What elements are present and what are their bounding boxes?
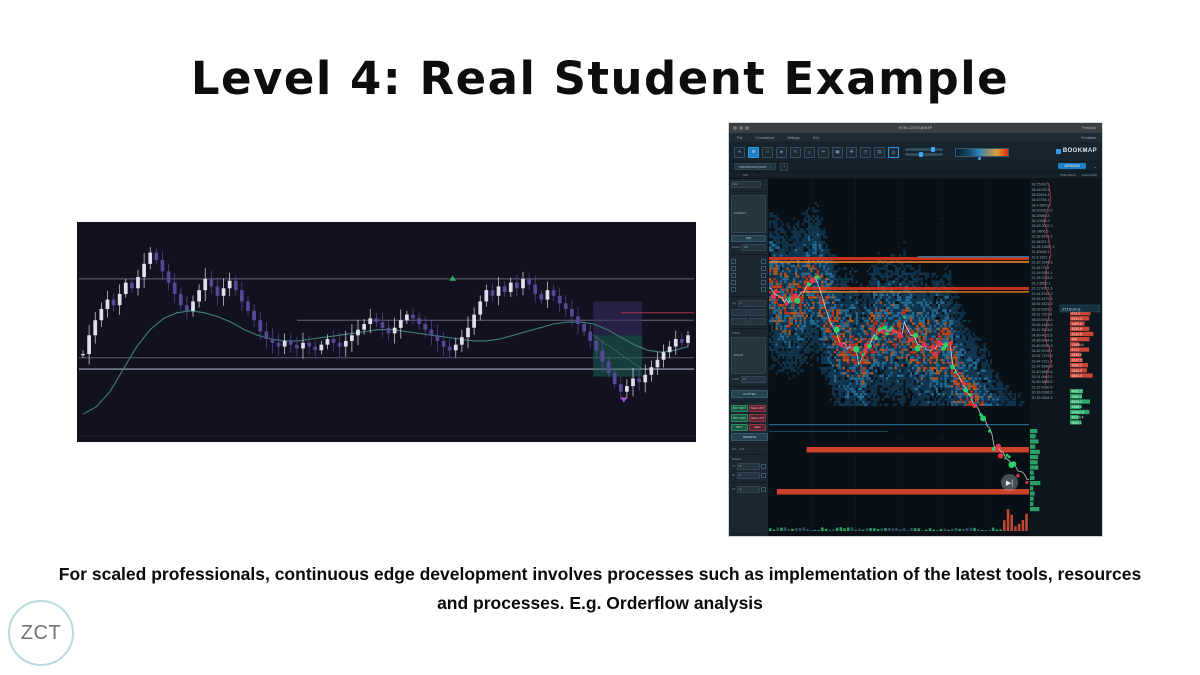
dom-price-ladder[interactable]: 38.75290.138.44192.538.52818.438.43756.4… <box>1029 179 1102 537</box>
bookmap-menubar[interactable]: File Connections Settings Grid Feedback <box>729 133 1102 143</box>
layer-settings-icon[interactable] <box>761 259 766 264</box>
account-button[interactable]: SIM <box>731 235 766 243</box>
pnl-row: PnL 0.00 <box>731 448 766 451</box>
tp-stepper-icon[interactable] <box>761 464 766 469</box>
crosshair-tool[interactable]: ✛ <box>734 147 745 158</box>
divider <box>731 386 766 387</box>
substrip-left-label: SOI <box>743 173 748 177</box>
ts-row[interactable]: TS 4 <box>731 486 766 493</box>
market-order-row[interactable]: BUY MKT SELL MKT <box>731 405 766 413</box>
ladder-svg: 38.75290.138.44192.538.52818.438.43756.4… <box>1030 179 1102 537</box>
bookmap-substrip: SOI Order Book Volume Dot <box>729 172 1102 179</box>
target-tool[interactable]: ✜ <box>846 147 857 158</box>
layer-settings-icon[interactable] <box>761 273 766 278</box>
layer-toggle-row[interactable] <box>731 259 766 264</box>
price-label: PRICE <box>731 332 740 335</box>
order-book-label[interactable]: Order Book <box>1060 173 1075 177</box>
window-title-right-label[interactable]: Feedback <box>1082 126 1096 130</box>
bookmap-tabbar[interactable]: mtdashboard panel × + UPGRADE ⌄ <box>729 162 1102 172</box>
clock-tool[interactable]: ◷ <box>860 147 871 158</box>
menu-item-grid[interactable]: Grid <box>813 136 819 140</box>
bookmap-logo-icon <box>1056 149 1061 154</box>
layer-toggle-row[interactable] <box>731 287 766 292</box>
slide-caption: For scaled professionals, continuous edg… <box>45 560 1155 618</box>
grid-cell[interactable] <box>731 309 748 316</box>
grid-cell[interactable] <box>749 309 766 316</box>
color-scale-knob[interactable] <box>978 157 981 160</box>
layer-settings-icon[interactable] <box>761 280 766 285</box>
levels-tool[interactable]: ≡ <box>804 147 815 158</box>
heatmap-svg: 06:3007:4512:0006:1506:30 <box>769 179 1029 537</box>
sl-label: SL <box>731 474 735 477</box>
candlestick-chart-image <box>77 222 696 442</box>
workspace-tab-label: mtdashboard panel <box>739 165 766 169</box>
sell-button[interactable]: SELL <box>749 424 766 432</box>
qty-row[interactable]: Qty 1 <box>731 300 766 307</box>
heatmap-tool[interactable]: ≋ <box>748 147 759 158</box>
connection-field[interactable]: CONNECT <box>731 195 766 233</box>
period-row[interactable]: Period 170 <box>731 244 766 251</box>
reverse-button[interactable]: REVERSE <box>731 433 768 441</box>
volume-dots-tool[interactable]: ⠿ <box>762 147 773 158</box>
liquidity-heatmap[interactable]: 06:3007:4512:0006:1506:30 ▶| <box>769 179 1029 537</box>
quick-grid[interactable] <box>731 309 766 325</box>
limit-order-row[interactable]: BUY LMT SELL LMT <box>731 414 766 422</box>
zct-logo: ZCT <box>8 600 74 666</box>
divider <box>731 191 766 192</box>
order-row[interactable]: BUY SELL <box>731 424 766 432</box>
page-title: Level 4: Real Student Example <box>0 52 1200 105</box>
divider <box>731 444 766 445</box>
toolbar-slider-group[interactable] <box>905 148 943 156</box>
layer-settings-icon[interactable] <box>761 287 766 292</box>
divider <box>731 328 766 329</box>
bookmap-logo-text: BOOKMAP <box>1063 148 1097 154</box>
candlestick-chart-svg <box>77 222 696 442</box>
bookmap-toolbar[interactable]: ✛≋⠿◈✎≡✏▣✜◷▤⏻ BOOKMAP <box>729 143 1102 162</box>
size-slider[interactable] <box>905 148 943 151</box>
layer-toggle-row[interactable] <box>731 280 766 285</box>
ts-stepper-icon[interactable] <box>761 487 766 492</box>
period-input[interactable]: 170 <box>741 244 766 251</box>
workspace-tab[interactable]: mtdashboard panel × <box>734 163 776 170</box>
replay-play-button[interactable]: ▶| <box>1001 474 1018 491</box>
layer-visibility-icon[interactable] <box>731 266 736 271</box>
buy-market-button[interactable]: BUY MKT <box>731 405 748 413</box>
window-title: HTML-DOCS@MAP <box>729 126 1102 130</box>
tp-row[interactable]: TP 8 <box>731 463 766 470</box>
grid-cell[interactable] <box>731 318 748 325</box>
logo-text: ZCT <box>8 600 74 666</box>
balance-label: Balance <box>731 458 766 461</box>
layer-settings-icon[interactable] <box>761 266 766 271</box>
tp-input[interactable]: 8 <box>737 463 760 470</box>
divider <box>731 296 766 297</box>
stop-row[interactable]: STOP 12 <box>731 376 766 383</box>
ts-input[interactable]: 4 <box>737 486 760 493</box>
menu-item-connections[interactable]: Connections <box>755 136 774 140</box>
substrip-right-group: Order Book Volume Dot <box>1060 173 1097 177</box>
ts-label: TS <box>731 488 735 491</box>
record-tool[interactable]: ⏻ <box>888 147 899 158</box>
line-tool[interactable]: ✏ <box>818 147 829 158</box>
layer-visibility-icon[interactable] <box>731 259 736 264</box>
flatten-button[interactable]: FLATTEN <box>731 390 768 398</box>
bookmap-logo: BOOKMAP <box>1056 148 1097 154</box>
divider <box>731 454 766 455</box>
price-input[interactable]: 4163.25 <box>731 337 766 375</box>
menu-item-feedback[interactable]: Feedback <box>1081 136 1096 140</box>
bookmap-application-window[interactable]: HTML-DOCS@MAP Feedback File Connections … <box>728 122 1103 537</box>
divider <box>731 482 766 483</box>
chevron-down-icon[interactable]: ⌄ <box>1094 164 1097 169</box>
color-scale-gradient[interactable] <box>955 148 1009 157</box>
close-icon[interactable]: × <box>769 165 771 169</box>
chevron-down-icon[interactable]: ⌄ <box>763 183 766 186</box>
period-label: Period <box>731 246 740 249</box>
buy-button[interactable]: BUY <box>731 424 748 432</box>
sl-input[interactable]: 6 <box>737 472 760 479</box>
upgrade-button[interactable]: UPGRADE <box>1058 163 1086 169</box>
layer-visibility-icon[interactable] <box>731 287 736 292</box>
sl-stepper-icon[interactable] <box>761 473 766 478</box>
instrument-select[interactable]: ES <box>731 181 761 188</box>
qty-label: Qty <box>731 302 736 305</box>
pnl-label: PnL <box>731 448 737 451</box>
bookmap-body: ES ⌄ CONNECT SIM Period 170 <box>729 179 1102 537</box>
tp-label: TP <box>731 465 735 468</box>
toolbar-icon-group[interactable]: ✛≋⠿◈✎≡✏▣✜◷▤⏻ <box>734 147 899 158</box>
price-row[interactable]: PRICE <box>731 332 766 335</box>
bubbles-tool[interactable]: ◈ <box>776 147 787 158</box>
pnl-value: 0.00 <box>738 448 744 451</box>
layer-toggle-row[interactable] <box>731 266 766 271</box>
instrument-row[interactable]: ES ⌄ <box>731 181 766 188</box>
stop-input[interactable]: 12 <box>741 376 766 383</box>
opacity-slider[interactable] <box>905 153 943 156</box>
bookmap-titlebar: HTML-DOCS@MAP Feedback <box>729 123 1102 133</box>
volume-dot-label[interactable]: Volume Dot <box>1081 173 1097 177</box>
trading-sidebar[interactable]: ES ⌄ CONNECT SIM Period 170 <box>729 179 769 537</box>
divider <box>731 533 766 534</box>
sidebar-icon-list[interactable] <box>731 258 766 293</box>
sell-limit-button[interactable]: SELL LMT <box>749 414 766 422</box>
divider <box>731 254 766 255</box>
layer-visibility-icon[interactable] <box>731 280 736 285</box>
menu-item-settings[interactable]: Settings <box>787 136 799 140</box>
add-tab-button[interactable]: + <box>780 163 788 171</box>
layer-toggle-row[interactable] <box>731 273 766 278</box>
stop-label: STOP <box>731 378 739 381</box>
save-tool[interactable]: ▤ <box>874 147 885 158</box>
sl-row[interactable]: SL 6 <box>731 472 766 479</box>
divider <box>731 401 766 402</box>
layer-visibility-icon[interactable] <box>731 273 736 278</box>
menu-item-file[interactable]: File <box>737 136 742 140</box>
qty-input[interactable]: 1 <box>738 300 766 307</box>
buy-limit-button[interactable]: BUY LMT <box>731 414 748 422</box>
sell-market-button[interactable]: SELL MKT <box>749 405 766 413</box>
screenshot-tool[interactable]: ▣ <box>832 147 843 158</box>
grid-cell[interactable] <box>749 318 766 325</box>
pencil-tool[interactable]: ✎ <box>790 147 801 158</box>
